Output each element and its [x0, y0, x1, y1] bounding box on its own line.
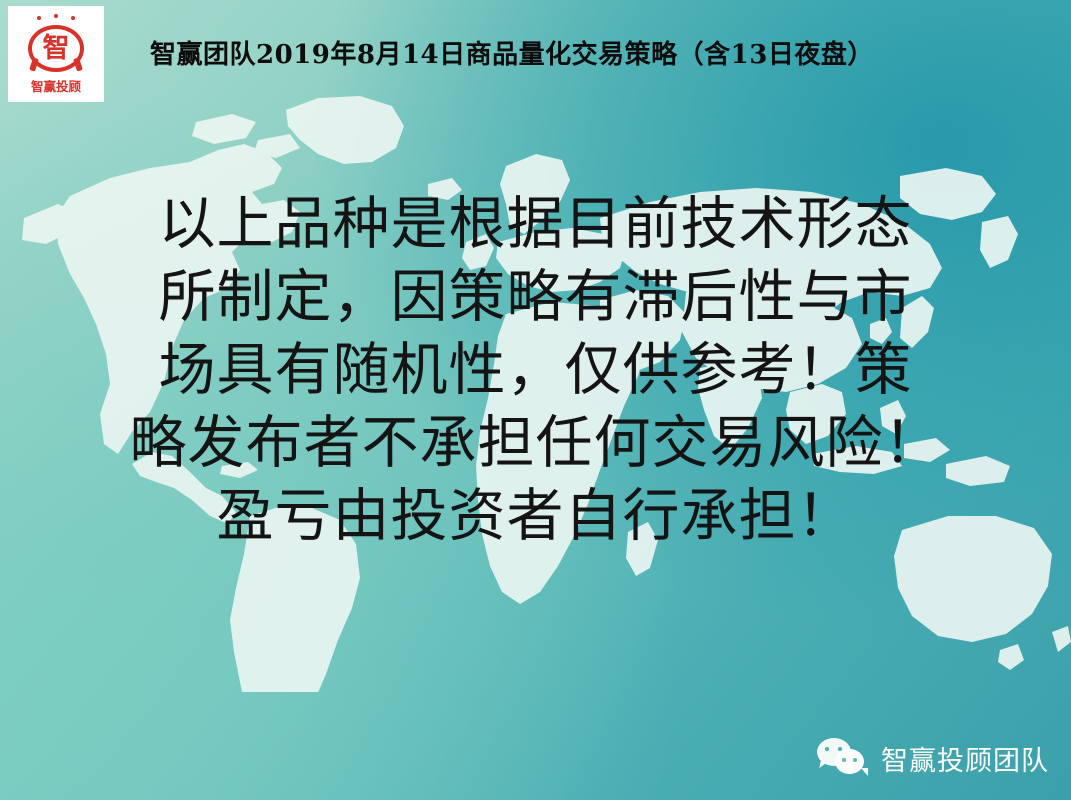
- disclaimer-line-5: 盈亏由投资者自行承担！: [0, 480, 1071, 553]
- landmass-arctic-islands-2: [254, 134, 300, 158]
- seal-character: 智: [43, 35, 70, 62]
- zhiying-seal-logo: 智 智赢投顾: [15, 13, 97, 95]
- seal-ring: 智: [28, 25, 84, 72]
- landmass-tasmania: [998, 644, 1024, 670]
- presentation-slide: 智 智赢投顾 智赢团队2019年8月14日商品量化交易策略（含13日夜盘） 以上…: [0, 0, 1071, 800]
- wechat-account-badge: 智赢投顾团队: [817, 738, 1049, 778]
- page-title: 智赢团队2019年8月14日商品量化交易策略（含13日夜盘）: [150, 34, 874, 71]
- disclaimer-line-2: 所制定，因策略有滞后性与市: [0, 261, 1071, 334]
- wechat-eye-2: [838, 747, 842, 751]
- brand-logo: 智 智赢投顾: [8, 6, 104, 102]
- wechat-icon: [817, 738, 869, 778]
- wechat-account-name: 智赢投顾团队: [881, 739, 1049, 778]
- disclaimer-text: 以上品种是根据目前技术形态 所制定，因策略有滞后性与市 场具有随机性，仅供参考！…: [0, 188, 1071, 553]
- wechat-bubble-small: [835, 749, 864, 774]
- wechat-bubble-small-tail: [861, 768, 868, 776]
- seal-dots-decoration: [33, 16, 79, 24]
- seal-name-text: 智赢投顾: [31, 76, 81, 95]
- disclaimer-line-3: 场具有随机性，仅供参考！策: [0, 334, 1071, 407]
- wechat-eye-4: [853, 758, 857, 762]
- disclaimer-line-1: 以上品种是根据目前技术形态: [0, 188, 1071, 261]
- wechat-eye-1: [825, 747, 829, 751]
- disclaimer-line-4: 略发布者不承担任何交易风险！: [0, 407, 1071, 480]
- landmass-arctic-islands-1: [192, 114, 256, 144]
- landmass-new-zealand-1: [1052, 626, 1071, 652]
- wechat-bubble-large-tail: [819, 760, 828, 769]
- wechat-eye-3: [842, 758, 846, 762]
- landmass-greenland: [286, 96, 404, 164]
